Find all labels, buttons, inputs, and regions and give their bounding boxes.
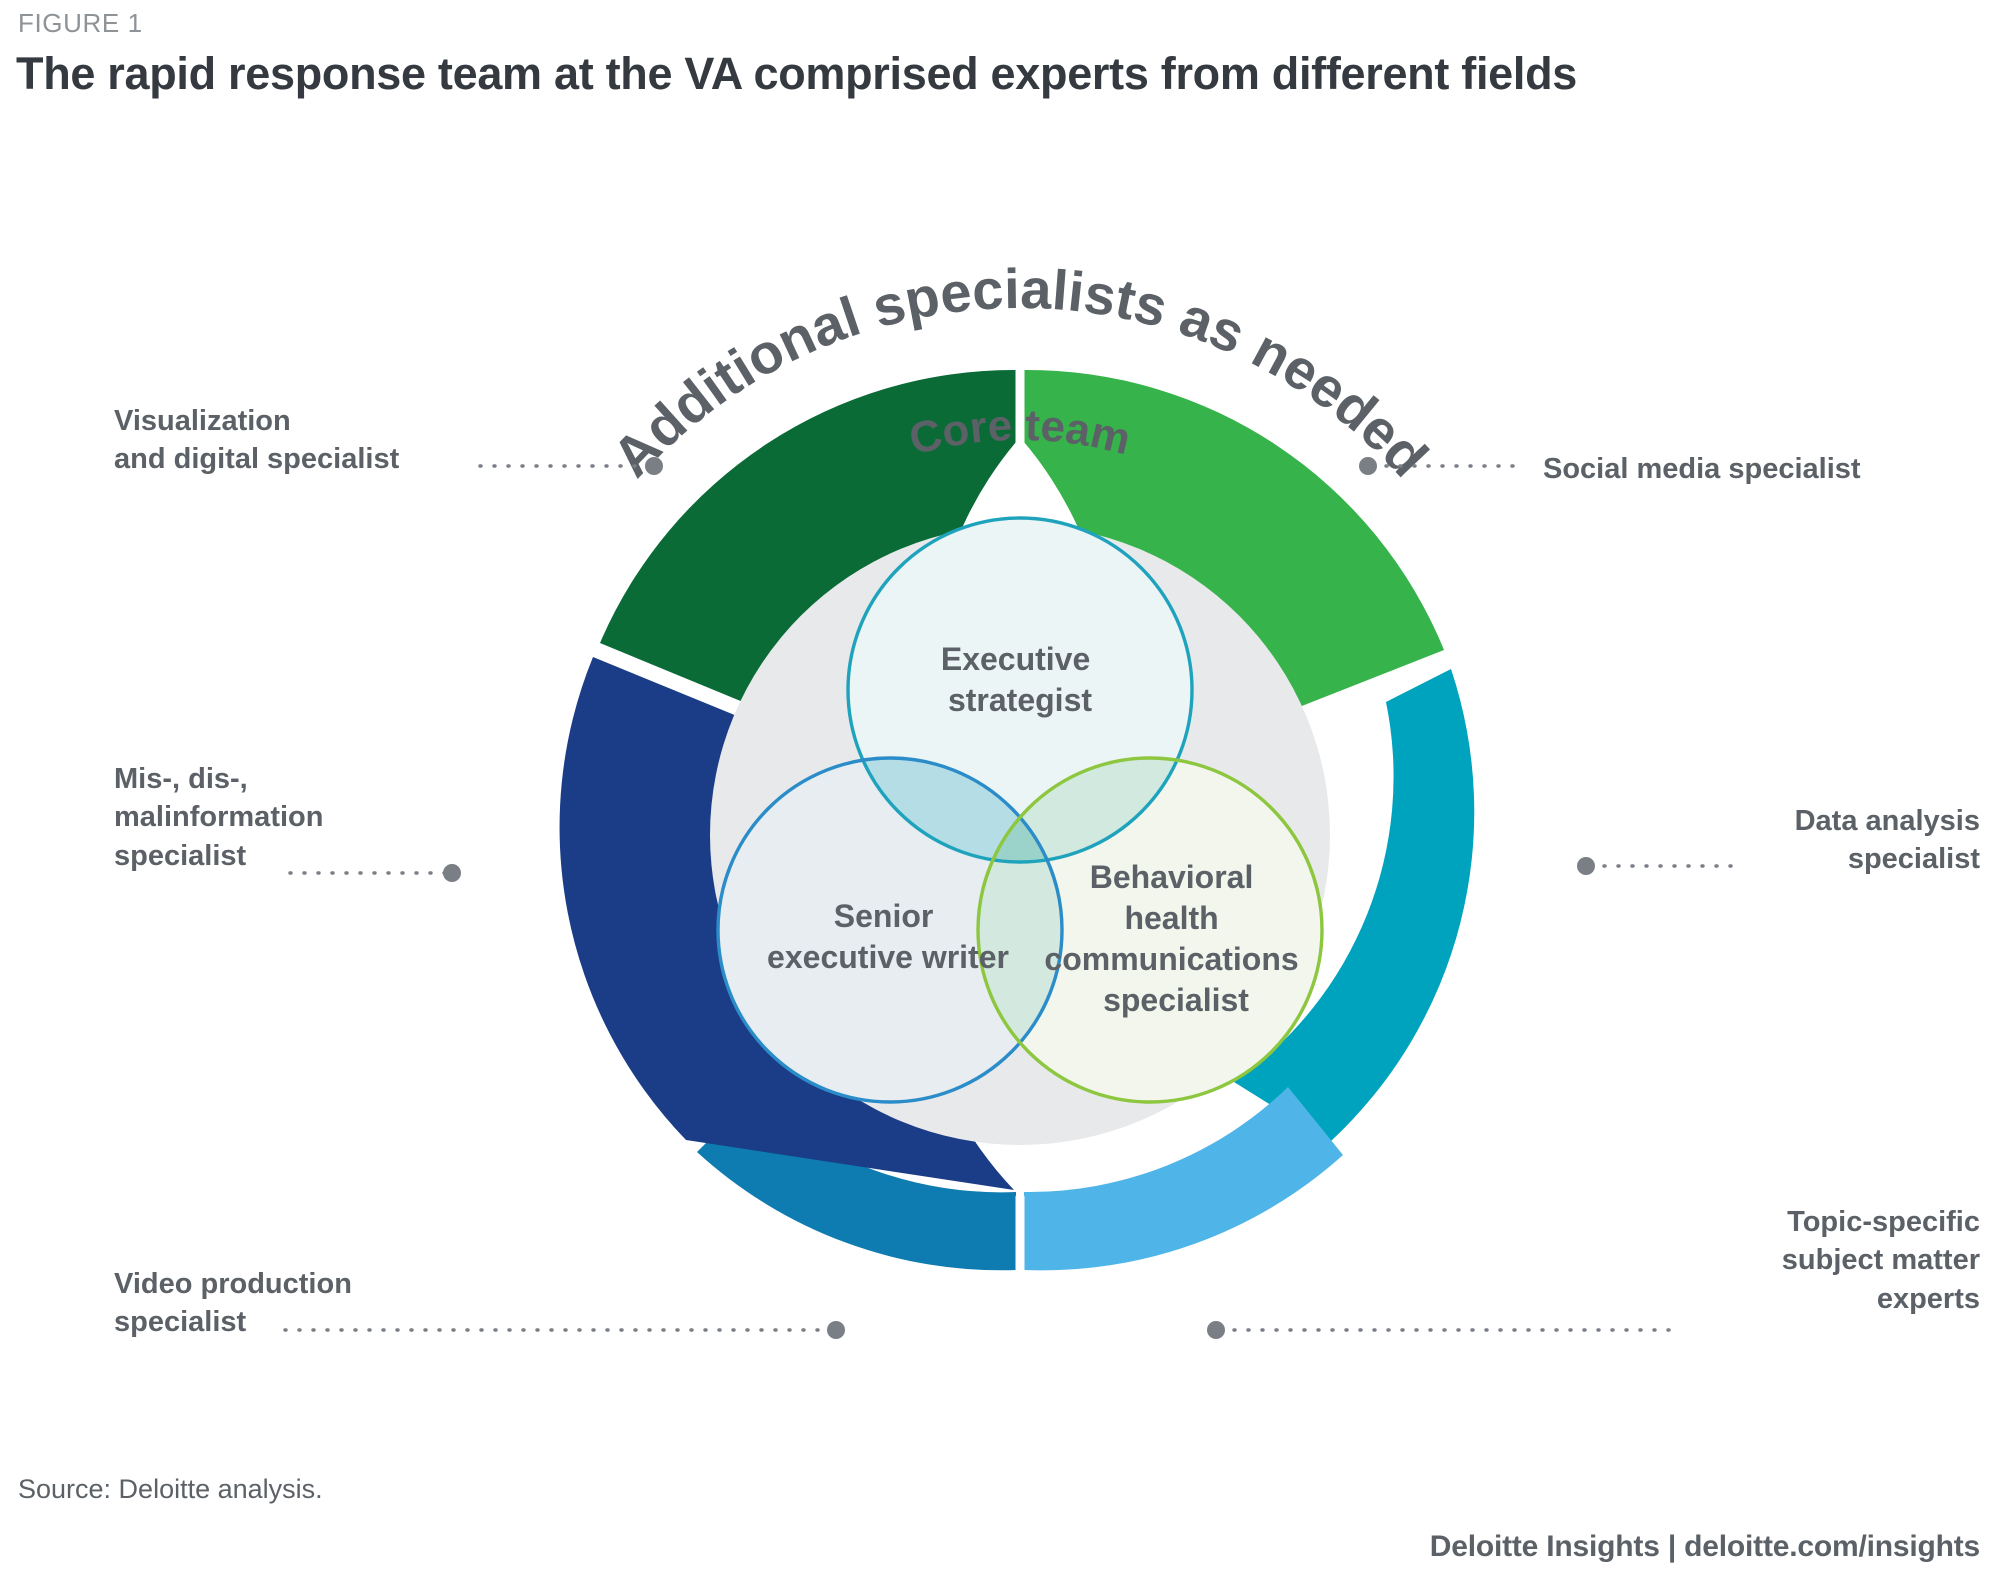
leader-dot-visualization: [645, 457, 663, 475]
core-team-label-path: Core team: [904, 401, 1135, 465]
leader-dot-social-media: [1359, 457, 1377, 475]
ring-label-misinformation[interactable]: Mis-, dis-, malinformation specialist: [114, 760, 444, 875]
brand-footer: Deloitte Insights | deloitte.com/insight…: [1430, 1530, 1980, 1564]
ring-label-social-media[interactable]: Social media specialist: [1543, 450, 1983, 488]
leader-dot-topic-experts: [1207, 1321, 1225, 1339]
leader-dot-misinformation: [443, 864, 461, 882]
core-team-label: Core team: [904, 401, 1135, 465]
ring-label-topic-experts[interactable]: Topic-specific subject matter experts: [1540, 1203, 1980, 1318]
ring-label-visualization[interactable]: Visualization and digital specialist: [114, 402, 474, 479]
ring-label-data-analysis[interactable]: Data analysis specialist: [1540, 802, 1980, 879]
ring-label-video-production[interactable]: Video production specialist: [114, 1265, 434, 1342]
leader-dot-video-production: [827, 1321, 845, 1339]
source-note: Source: Deloitte analysis.: [18, 1474, 323, 1505]
